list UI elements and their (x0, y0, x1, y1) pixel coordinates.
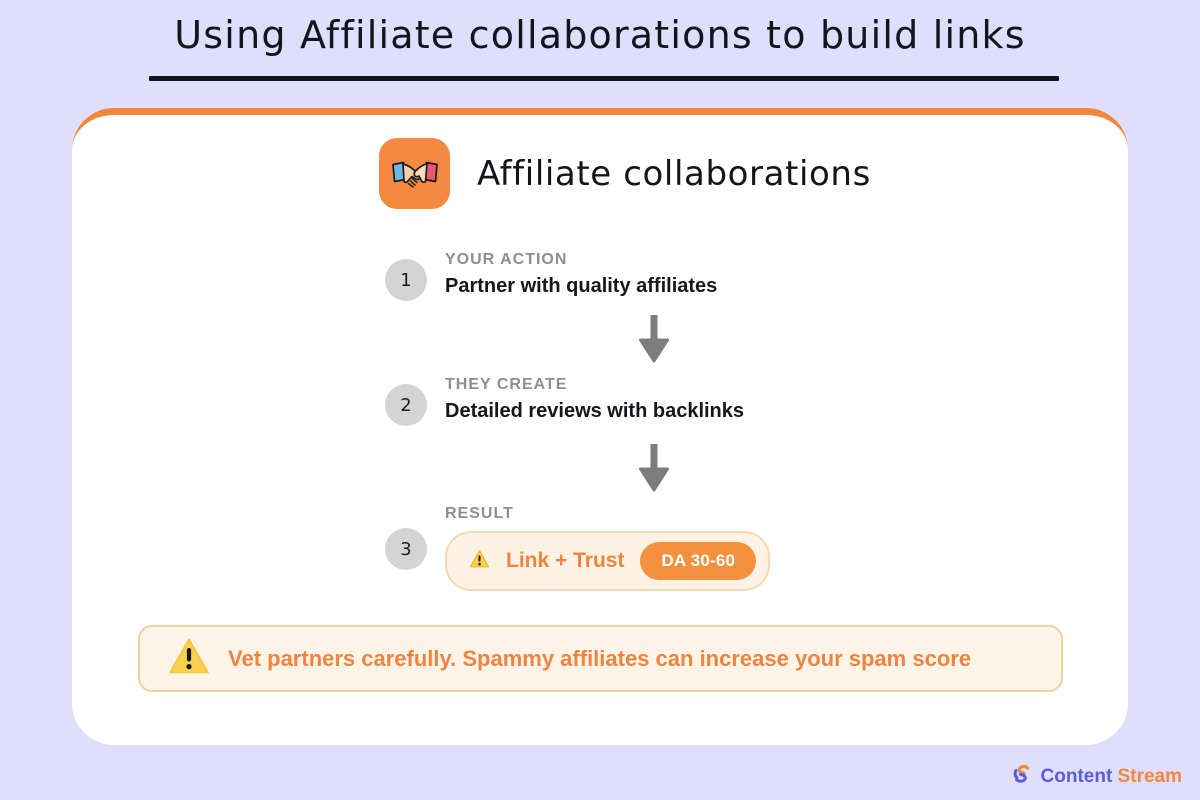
brand-name-first: Content (1041, 766, 1113, 787)
da-score-pill: DA 30-60 (640, 542, 756, 580)
warning-banner: Vet partners carefully. Spammy affiliate… (138, 625, 1063, 692)
step-label: RESULT (445, 504, 770, 524)
steps-list: 1 YOUR ACTION Partner with quality affil… (385, 250, 1085, 591)
card-header: Affiliate collaborations (379, 138, 871, 209)
brand-name: Content Stream (1041, 766, 1182, 788)
handshake-icon (379, 138, 450, 209)
arrow-down-icon (633, 315, 675, 363)
page-title-container: Using Affiliate collaborations to build … (0, 14, 1200, 58)
card-heading: Affiliate collaborations (477, 154, 871, 194)
step-item-1: 1 YOUR ACTION Partner with quality affil… (385, 250, 1085, 301)
step-number-badge: 1 (385, 259, 427, 301)
step-number-badge: 3 (385, 528, 427, 570)
warning-triangle-icon (469, 549, 490, 574)
step-value: Detailed reviews with backlinks (445, 398, 744, 425)
step-value: Partner with quality affiliates (445, 273, 717, 300)
step-label: THEY CREATE (445, 375, 744, 395)
step-item-2: 2 THEY CREATE Detailed reviews with back… (385, 375, 1085, 426)
brand-name-second: Stream (1118, 766, 1182, 787)
step-item-3: 3 RESULT Link + Trust DA 30-60 (385, 504, 1085, 591)
result-badge: Link + Trust DA 30-60 (445, 531, 770, 591)
info-card: Affiliate collaborations 1 YOUR ACTION P… (72, 108, 1128, 745)
stream-s-logo-icon (1011, 763, 1033, 790)
result-badge-text: Link + Trust (506, 549, 624, 573)
warning-text: Vet partners carefully. Spammy affiliate… (228, 646, 971, 672)
warning-triangle-icon (168, 637, 210, 680)
step-content: THEY CREATE Detailed reviews with backli… (445, 375, 744, 425)
step-number-badge: 2 (385, 384, 427, 426)
step-content: RESULT Link + Trust DA 30-60 (445, 504, 770, 591)
page-title: Using Affiliate collaborations to build … (0, 14, 1200, 58)
brand-logo: Content Stream (1011, 763, 1182, 790)
title-divider (149, 76, 1059, 81)
step-label: YOUR ACTION (445, 250, 717, 270)
arrow-down-icon (633, 444, 675, 492)
step-content: YOUR ACTION Partner with quality affilia… (445, 250, 717, 300)
